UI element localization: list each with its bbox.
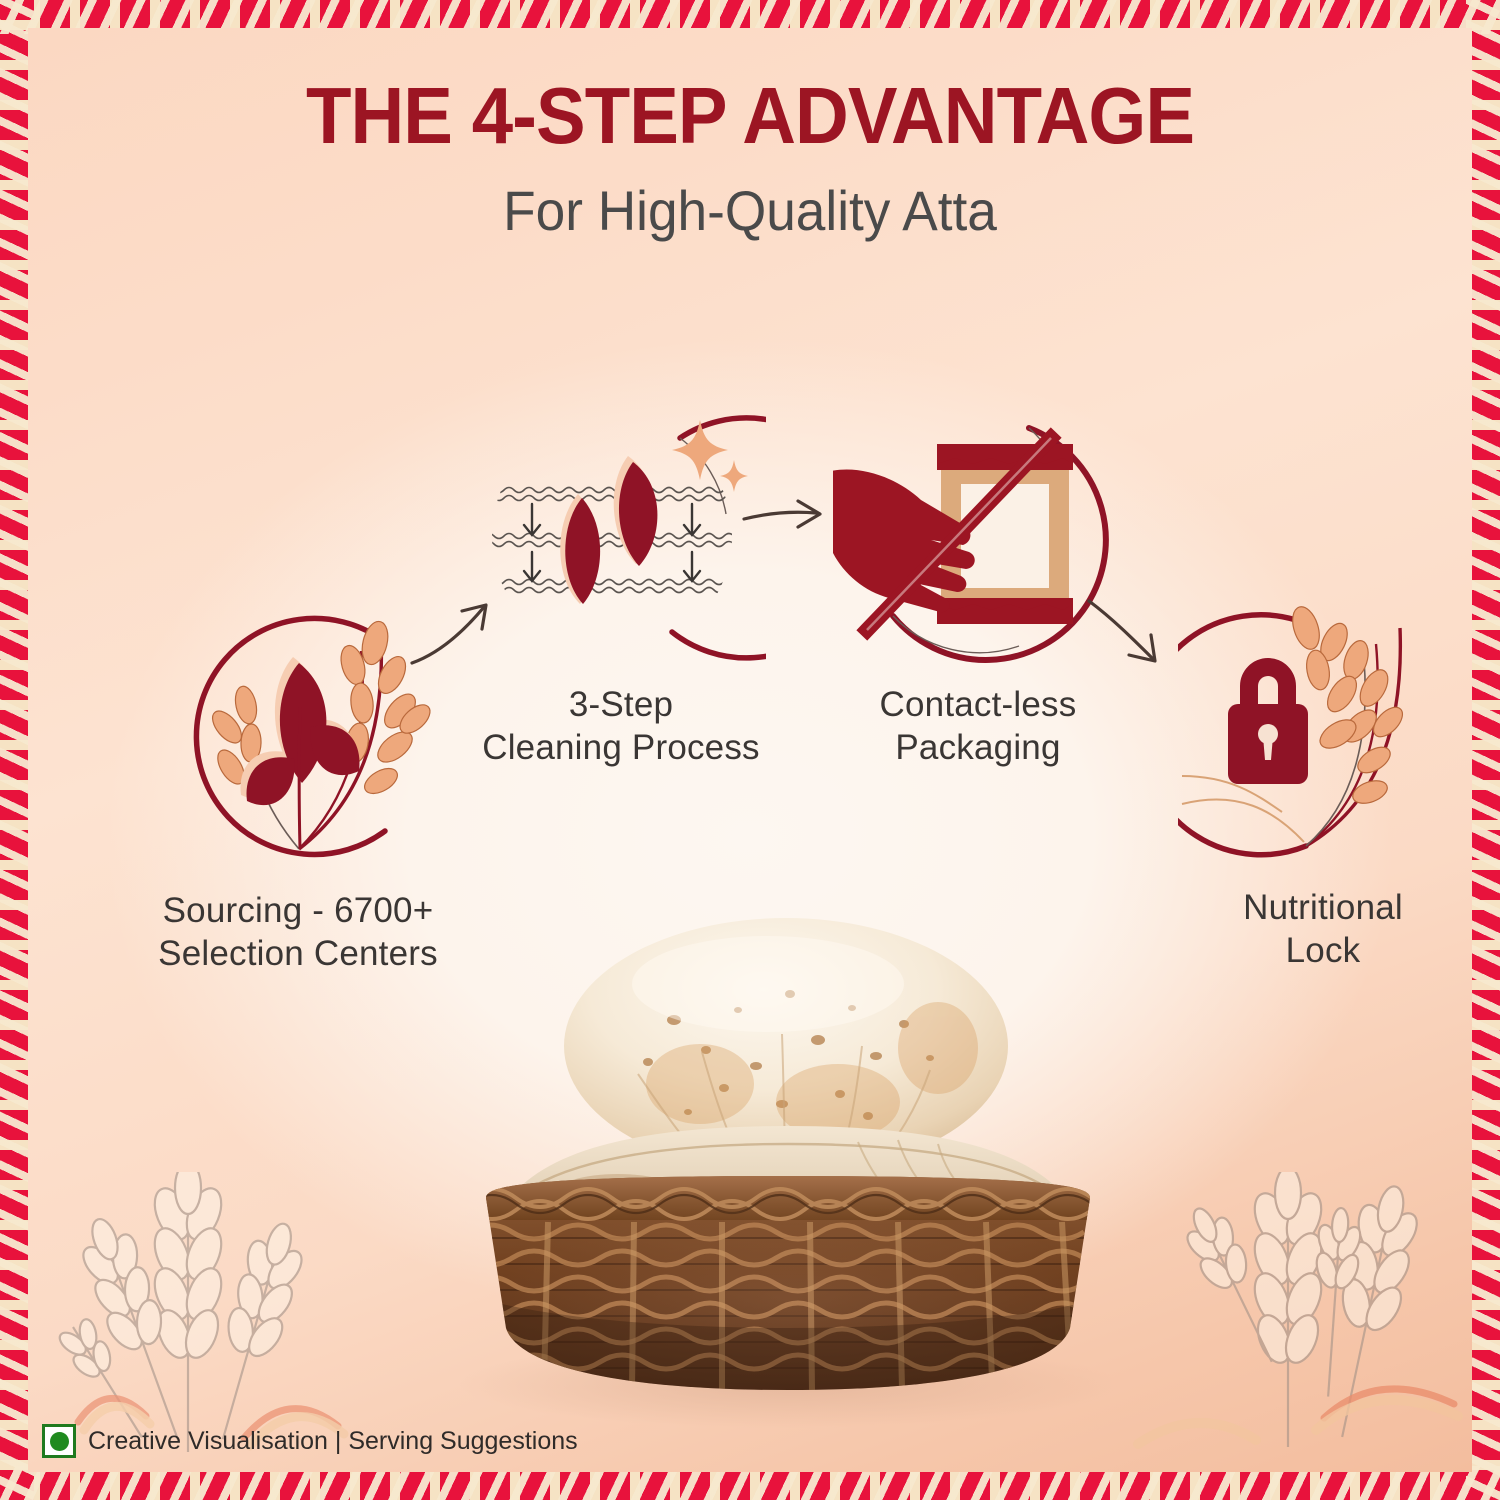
arrow-2-icon	[740, 493, 838, 539]
content-area: THE 4-STEP ADVANTAGE For High-Quality At…	[28, 28, 1472, 1472]
padlock-wheat-icon	[1178, 598, 1468, 873]
footer-disclaimer: Creative Visualisation | Serving Suggest…	[42, 1424, 578, 1458]
step-packaging: Contact-less Packaging	[818, 406, 1138, 769]
page-title: THE 4-STEP ADVANTAGE	[79, 76, 1422, 156]
wheat-sprout-icon	[153, 603, 443, 878]
arrow-3-icon	[1083, 593, 1179, 673]
disclaimer-text: Creative Visualisation | Serving Suggest…	[88, 1427, 578, 1456]
arrow-1-icon	[406, 593, 502, 669]
page-subtitle: For High-Quality Atta	[64, 183, 1436, 239]
step-packaging-caption: Contact-less Packaging	[818, 684, 1138, 769]
step-nutritional-lock: Nutritional Lock	[1138, 598, 1472, 972]
poster-canvas: THE 4-STEP ADVANTAGE For High-Quality At…	[0, 0, 1500, 1500]
sieve-cleaning-icon	[476, 406, 766, 676]
no-hand-touch-packet-icon	[833, 406, 1123, 676]
step-nutritional-lock-caption: Nutritional Lock	[1138, 887, 1472, 972]
step-cleaning: 3-Step Cleaning Process	[446, 406, 796, 769]
step-cleaning-caption: 3-Step Cleaning Process	[446, 684, 796, 769]
veg-mark-dot	[50, 1432, 69, 1451]
veg-mark-icon	[42, 1424, 76, 1458]
wheat-watermark-right	[1128, 1172, 1468, 1472]
roti-in-wicker-basket-photo	[438, 898, 1138, 1428]
